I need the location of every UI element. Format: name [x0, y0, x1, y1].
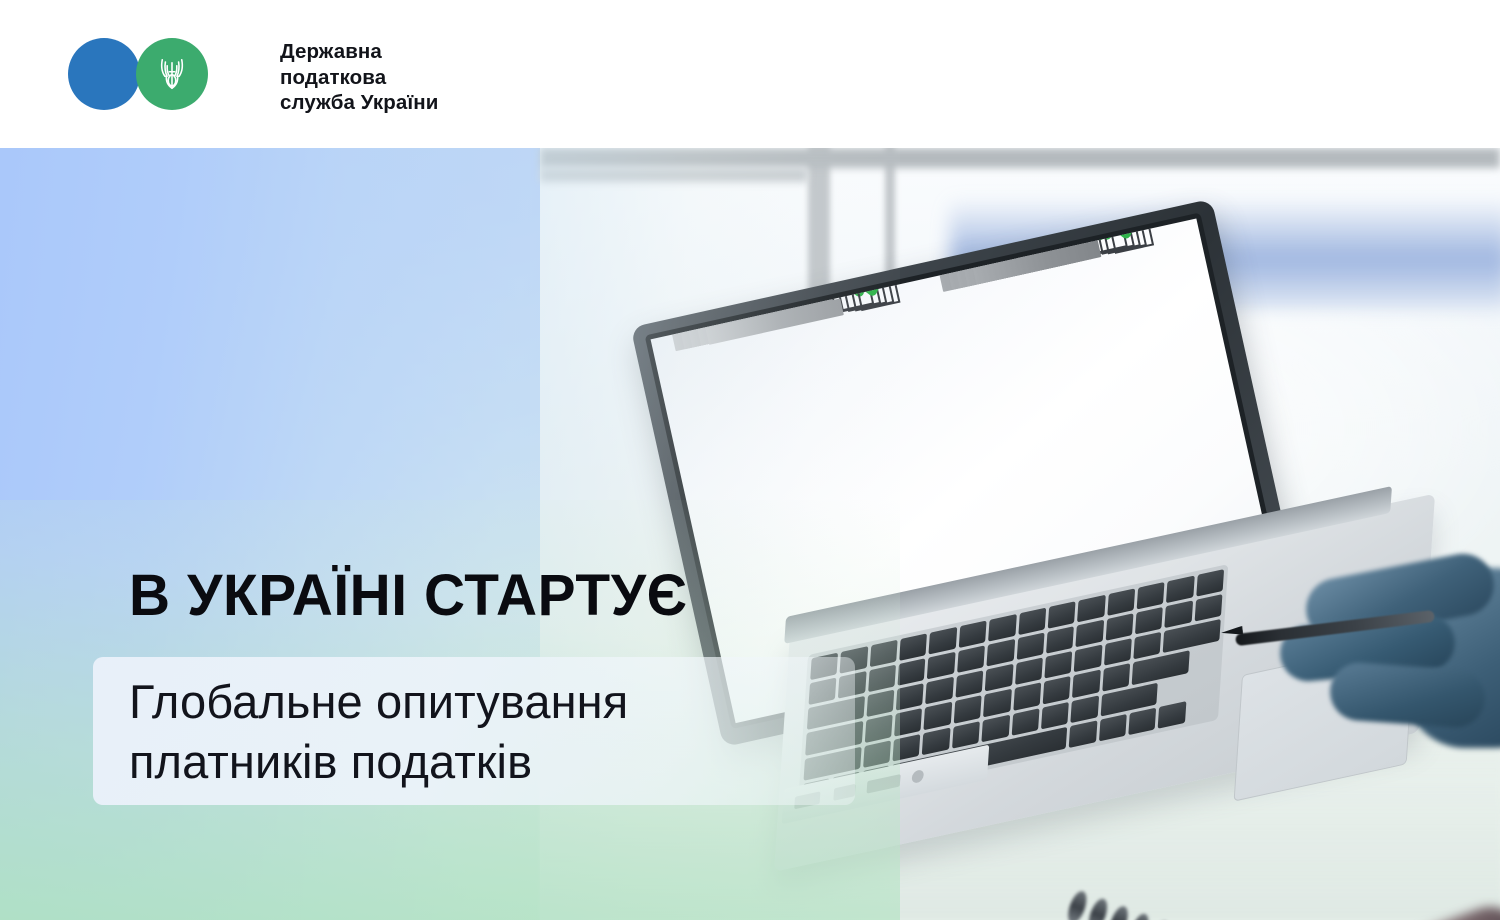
key — [1076, 620, 1104, 648]
key — [959, 620, 987, 648]
logo-text-line-2: податкова — [280, 65, 438, 91]
key — [1015, 658, 1043, 686]
key — [1158, 701, 1186, 729]
key — [982, 714, 1010, 742]
check-icon — [1095, 218, 1164, 251]
logo-text-line-1: Державна — [280, 39, 438, 65]
green-circle-icon — [136, 38, 208, 110]
key — [899, 633, 927, 661]
key — [1011, 708, 1039, 736]
logo-marks — [68, 38, 198, 110]
hand-holding-pen — [1235, 548, 1500, 778]
key — [955, 671, 983, 699]
page-headline: В УКРАЇНІ СТАРТУЄ — [129, 567, 688, 625]
key — [922, 727, 950, 755]
key — [1041, 702, 1069, 730]
key — [1165, 601, 1193, 629]
key — [1044, 651, 1072, 679]
key — [896, 683, 924, 711]
key — [1102, 664, 1130, 692]
checklist-item — [973, 229, 1154, 285]
key — [927, 652, 955, 680]
key — [1104, 639, 1132, 667]
checkbox-checked[interactable] — [1104, 218, 1153, 253]
checklist-bar — [973, 240, 1102, 284]
key — [1107, 588, 1135, 616]
key — [1072, 670, 1100, 698]
key — [988, 614, 1016, 642]
key — [1105, 613, 1133, 641]
key — [983, 689, 1011, 717]
logo-text-line-3: служба України — [280, 90, 438, 116]
key — [1016, 633, 1044, 661]
key — [1166, 576, 1194, 604]
key — [1128, 707, 1156, 735]
key — [1013, 683, 1041, 711]
ukrainian-trident-icon — [157, 55, 187, 93]
key — [1046, 626, 1074, 654]
key — [987, 639, 1015, 667]
finger — [1328, 661, 1487, 730]
header-bar: Державна податкова служба України — [0, 0, 1500, 148]
key — [957, 646, 985, 674]
key — [926, 677, 954, 705]
key — [1194, 594, 1222, 622]
dps-logo[interactable]: Державна податкова служба України — [68, 38, 438, 116]
key — [1074, 645, 1102, 673]
blue-circle-icon — [68, 38, 140, 110]
audio-jack-port — [912, 769, 925, 784]
spiral-ring — [1085, 896, 1111, 920]
key — [1077, 595, 1105, 623]
key — [924, 702, 952, 730]
key — [1048, 601, 1076, 629]
key — [1135, 607, 1163, 635]
dps-banner: Державна податкова служба України — [0, 0, 1500, 920]
key — [1137, 582, 1165, 610]
key — [954, 696, 982, 724]
key — [985, 664, 1013, 692]
hero-stage: В УКРАЇНІ СТАРТУЄ Глобальне опитування п… — [0, 148, 1500, 920]
logo-text: Державна податкова служба України — [280, 38, 438, 116]
key — [1043, 676, 1071, 704]
key — [929, 627, 957, 655]
key — [1099, 714, 1127, 742]
key — [898, 658, 926, 686]
key — [1018, 608, 1046, 636]
key — [1069, 720, 1097, 748]
key — [1196, 569, 1224, 597]
key — [952, 721, 980, 749]
page-subtitle: Глобальне опитування платників податків — [129, 672, 889, 792]
key — [1071, 695, 1099, 723]
key — [1133, 632, 1161, 660]
